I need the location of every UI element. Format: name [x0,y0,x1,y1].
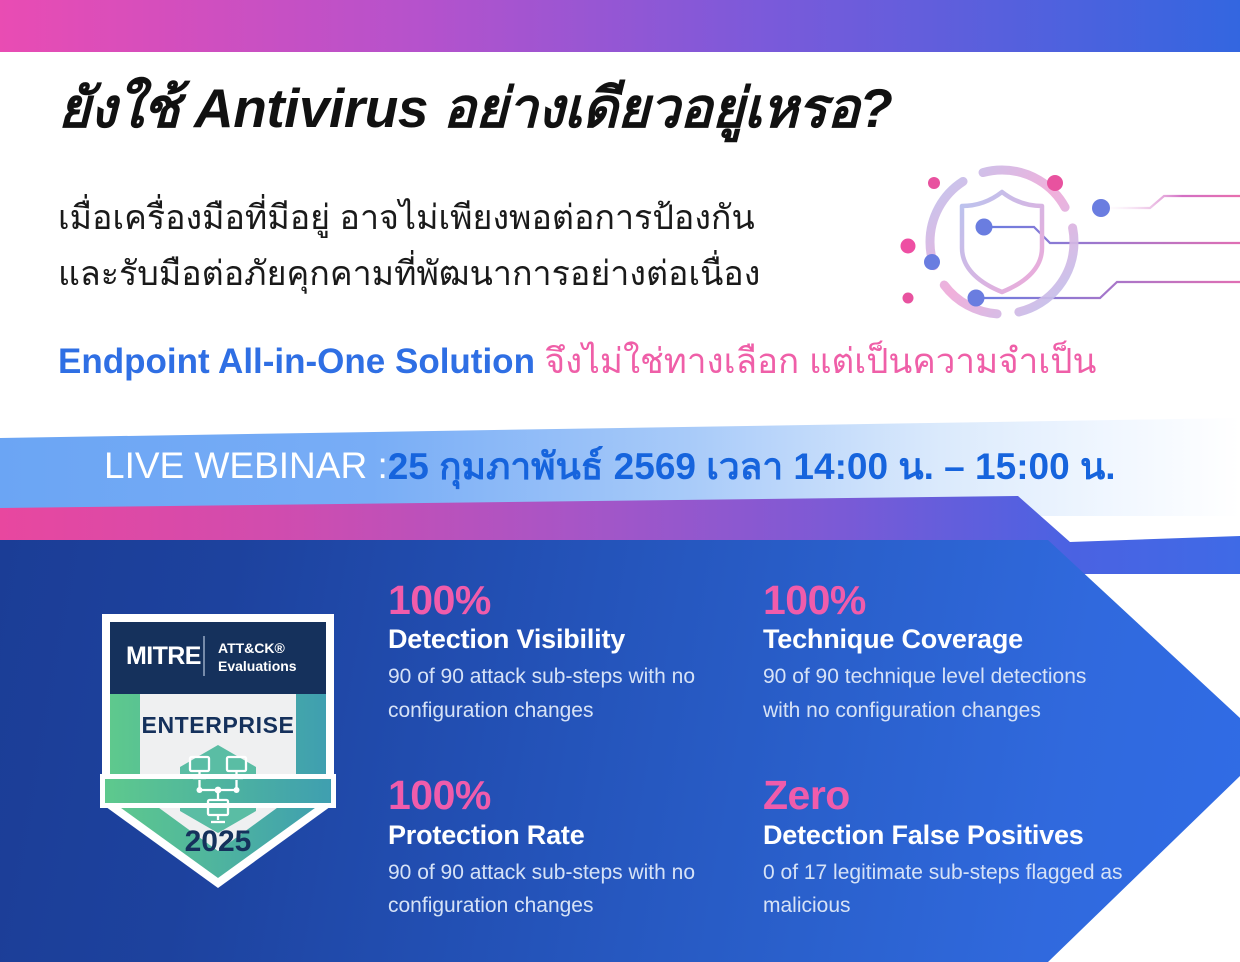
shield-circuit-icon [812,150,1240,340]
subheadline-line-2: และรับมือต่อภัยคุกคามที่พัฒนาการอย่างต่อ… [58,252,858,298]
badge-tier-text: ENTERPRISE [142,712,295,738]
stat-value: 100% [388,578,763,622]
solution-statement: Endpoint All-in-One Solution จึงไม่ใช่ทา… [58,334,1198,389]
page-title: ยังใช้ Antivirus อย่างเดียวอยู่เหรอ? [58,78,1178,140]
stat-value: 100% [763,578,1138,622]
stats-row-divider [388,727,1178,773]
webinar-label: LIVE WEBINAR : [104,445,388,487]
promo-banner: ยังใช้ Antivirus อย่างเดียวอยู่เหรอ? เมื… [0,0,1240,962]
stat-card-detection-visibility: 100% Detection Visibility 90 of 90 attac… [388,578,763,727]
stats-row-top: 100% Detection Visibility 90 of 90 attac… [388,578,1178,727]
stat-card-technique-coverage: 100% Technique Coverage 90 of 90 techniq… [763,578,1138,727]
stat-value: 100% [388,773,763,817]
stat-title: Detection Visibility [388,623,763,656]
badge-year-text: 2025 [185,825,252,858]
stat-description: 90 of 90 attack sub-steps with no config… [388,660,748,727]
stats-grid: 100% Detection Visibility 90 of 90 attac… [388,578,1178,923]
badge-brand-text: MITRE [126,642,201,670]
stat-title: Detection False Positives [763,819,1138,852]
stat-card-detection-false-positives: Zero Detection False Positives 0 of 17 l… [763,773,1138,922]
solution-rest-text: จึงไม่ใช่ทางเลือก แต่เป็นความจำเป็น [535,342,1096,381]
webinar-announcement: LIVE WEBINAR : 25 กุมภาพันธ์ 2569 เวลา 1… [104,438,1116,494]
stat-description: 90 of 90 technique level detections with… [763,660,1123,727]
webinar-datetime: 25 กุมภาพันธ์ 2569 เวลา 14:00 น. – 15:00… [388,437,1116,496]
stat-card-protection-rate: 100% Protection Rate 90 of 90 attack sub… [388,773,763,922]
badge-program-line-2: Evaluations [218,658,297,674]
stat-title: Technique Coverage [763,623,1138,656]
stat-description: 90 of 90 attack sub-steps with no config… [388,856,748,923]
stat-title: Protection Rate [388,819,763,852]
stat-value: Zero [763,773,1138,817]
stats-row-bottom: 100% Protection Rate 90 of 90 attack sub… [388,773,1178,922]
subheadline-line-1: เมื่อเครื่องมือที่มีอยู่ อาจไม่เพียงพอต่… [58,196,858,242]
top-gradient-bar [0,0,1240,52]
mitre-attack-badge: MITRE ATT&CK® Evaluations ENTERPRISE [96,608,340,894]
stat-description: 0 of 17 legitimate sub-steps flagged as … [763,856,1123,923]
badge-program-line-1: ATT&CK® [218,640,286,656]
solution-emphasis-text: Endpoint All-in-One Solution [58,342,535,381]
